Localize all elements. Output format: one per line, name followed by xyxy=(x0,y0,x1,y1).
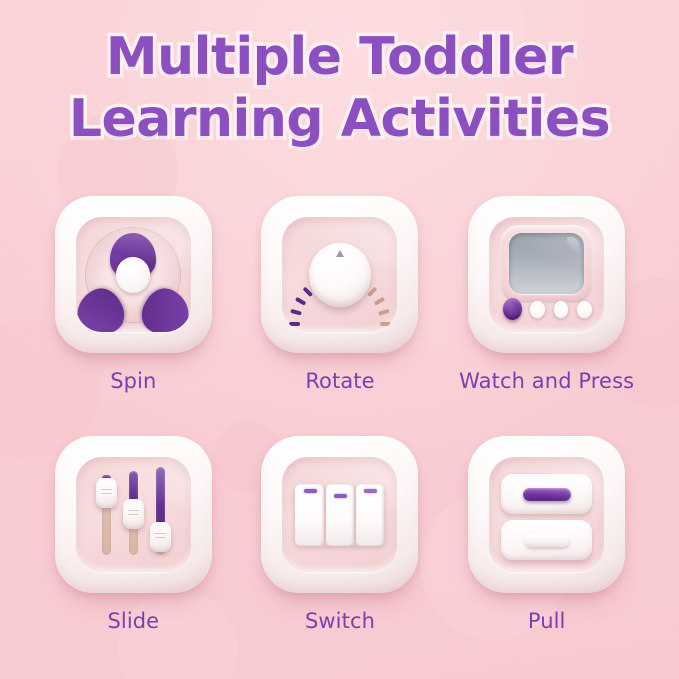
activity-card-switch[interactable]: Switch xyxy=(237,436,444,676)
rocker-switch-icon xyxy=(294,484,385,546)
tile-watch-and-press[interactable] xyxy=(468,196,625,353)
rotary-knob-icon[interactable] xyxy=(282,217,397,332)
knob-tick xyxy=(378,308,390,315)
tile-pull[interactable] xyxy=(468,436,625,593)
slider-1[interactable] xyxy=(102,475,111,555)
knob-tick xyxy=(289,322,300,326)
drawer-top[interactable] xyxy=(501,474,592,514)
button-row xyxy=(503,297,593,321)
button-white-3[interactable] xyxy=(576,300,593,319)
activity-label-slide: Slide xyxy=(107,609,159,633)
vertical-sliders-icon xyxy=(76,457,191,572)
activity-card-rotate[interactable]: Rotate xyxy=(237,196,444,436)
activity-label-rotate: Rotate xyxy=(305,369,374,393)
title-line-2: Learning Activities xyxy=(0,88,679,150)
title-line-1: Multiple Toddler xyxy=(0,26,679,88)
button-white-1[interactable] xyxy=(529,300,546,319)
activity-card-slide[interactable]: Slide xyxy=(30,436,237,676)
slider-track-fill xyxy=(156,467,165,529)
activity-card-watch-and-press[interactable]: Watch and Press xyxy=(443,196,650,436)
drawer-bottom[interactable] xyxy=(501,520,592,560)
activity-label-pull: Pull xyxy=(528,609,566,633)
slider-handle[interactable] xyxy=(150,522,171,552)
activity-label-spin: Spin xyxy=(110,369,156,393)
tv-screen-icon xyxy=(489,217,604,332)
rocker-switch-2[interactable] xyxy=(326,484,354,546)
tile-panel xyxy=(282,217,397,332)
activity-label-switch: Switch xyxy=(305,609,375,633)
slider-3[interactable] xyxy=(156,467,165,555)
fan-hub xyxy=(116,257,150,293)
tile-spin[interactable] xyxy=(55,196,212,353)
pull-handle-white[interactable] xyxy=(525,534,569,547)
fan-spinner-icon[interactable] xyxy=(76,217,191,332)
activity-card-spin[interactable]: Spin xyxy=(30,196,237,436)
rocker-switch-3[interactable] xyxy=(356,484,384,546)
tile-rotate[interactable] xyxy=(261,196,418,353)
slider-handle[interactable] xyxy=(96,478,117,508)
rocker-led xyxy=(364,489,377,493)
tile-switch[interactable] xyxy=(261,436,418,593)
pull-drawer-icon xyxy=(489,457,604,572)
tile-panel xyxy=(489,457,604,572)
tv-screen xyxy=(509,233,584,294)
knob-pointer-icon xyxy=(336,250,344,257)
activity-label-watch-and-press: Watch and Press xyxy=(459,369,634,393)
tile-slide[interactable] xyxy=(55,436,212,593)
tile-panel xyxy=(489,217,604,332)
pull-handle-purple[interactable] xyxy=(523,488,571,501)
knob-dial[interactable] xyxy=(309,243,371,307)
slider-2[interactable] xyxy=(129,471,138,555)
activity-card-pull[interactable]: Pull xyxy=(443,436,650,676)
activities-grid: Spin xyxy=(30,196,650,676)
rocker-switch-1[interactable] xyxy=(295,484,323,546)
tile-panel xyxy=(76,457,191,572)
button-purple[interactable] xyxy=(503,298,522,320)
knob-tick xyxy=(374,296,386,305)
knob-tick xyxy=(290,308,302,315)
tv-bezel xyxy=(500,225,593,303)
rocker-led xyxy=(334,494,347,498)
page-title: Multiple Toddler Learning Activities xyxy=(0,26,679,150)
knob-tick xyxy=(295,296,307,305)
rocker-led xyxy=(304,489,317,493)
knob-tick xyxy=(380,322,391,326)
slider-handle[interactable] xyxy=(123,499,144,529)
button-white-2[interactable] xyxy=(553,300,570,319)
tile-panel xyxy=(282,457,397,572)
tile-panel xyxy=(76,217,191,332)
